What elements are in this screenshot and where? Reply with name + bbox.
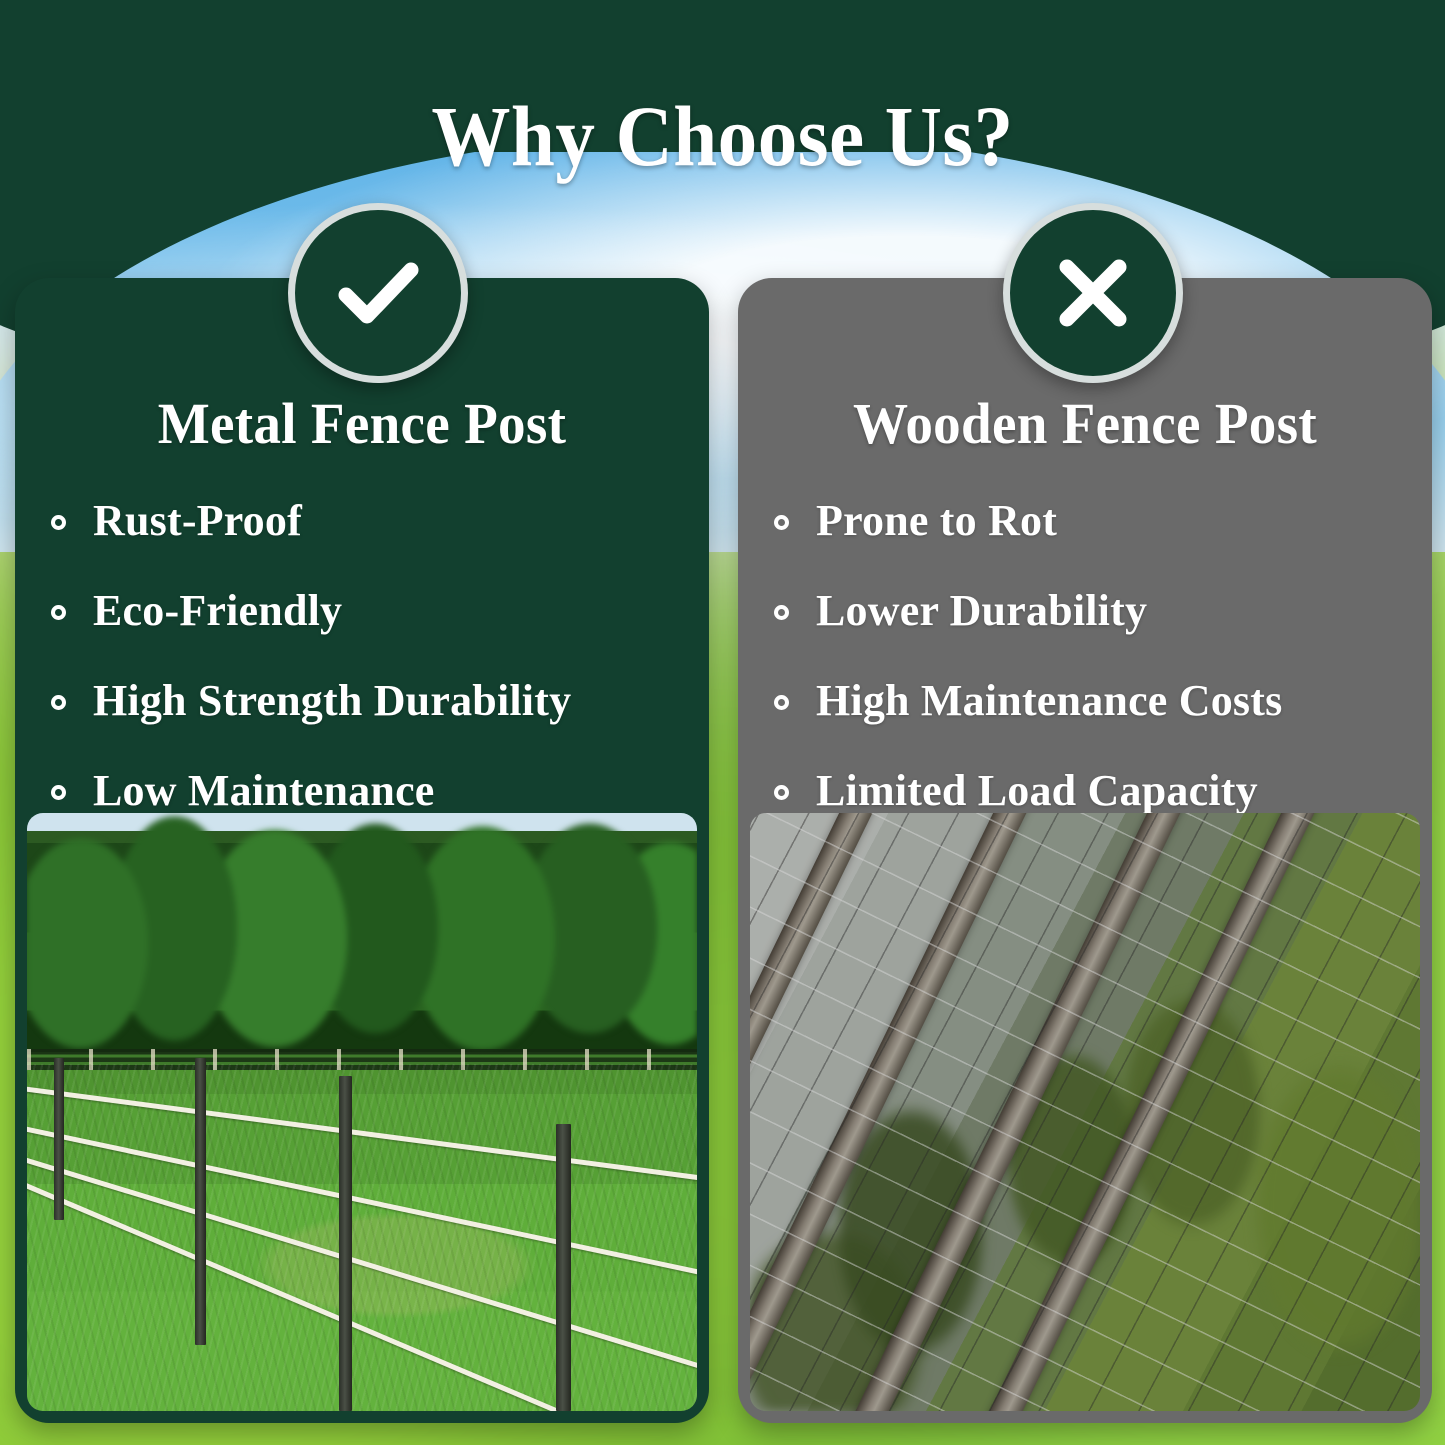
list-item: Eco-Friendly [93,589,683,633]
feature-list-wooden: Prone to Rot Lower Durability High Maint… [738,499,1432,813]
card-wooden-fence-post: Wooden Fence Post Prone to Rot Lower Dur… [738,278,1432,1423]
list-item-label: Rust-Proof [93,499,302,543]
bullet-ring-icon [51,785,66,800]
list-item: Limited Load Capacity [816,769,1406,813]
photo-wooden-fence-post [750,813,1420,1411]
list-item: Low Maintenance [93,769,683,813]
card-metal-fence-post: Metal Fence Post Rust-Proof Eco-Friendly… [15,278,709,1423]
photo-metal-post [195,1058,206,1345]
bullet-ring-icon [51,605,66,620]
photo-grass-texture [27,1064,697,1411]
list-item-label: Prone to Rot [816,499,1057,543]
photo-metal-post [339,1076,352,1411]
list-item-label: Limited Load Capacity [816,769,1258,813]
why-choose-us-poster: Why Choose Us? Metal Fence Post Rust-Pro… [0,0,1445,1445]
bullet-ring-icon [774,605,789,620]
list-item: High Maintenance Costs [816,679,1406,723]
bullet-ring-icon [774,785,789,800]
list-item-label: High Maintenance Costs [816,679,1282,723]
page-title: Why Choose Us? [58,86,1387,186]
cross-badge [1003,203,1183,383]
list-item-label: High Strength Durability [93,679,571,723]
bullet-ring-icon [51,695,66,710]
comparison-cards: Metal Fence Post Rust-Proof Eco-Friendly… [0,0,1445,1445]
photo-metal-post [556,1124,571,1411]
check-badge [288,203,468,383]
feature-list-metal: Rust-Proof Eco-Friendly High Strength Du… [15,499,709,813]
card-title-wooden: Wooden Fence Post [755,390,1414,457]
list-item-label: Lower Durability [816,589,1147,633]
cross-icon [1045,245,1141,341]
bullet-ring-icon [774,695,789,710]
check-icon [326,241,430,345]
list-item: Rust-Proof [93,499,683,543]
photo-treeline [27,813,697,1064]
photo-metal-fence-post [27,813,697,1411]
bullet-ring-icon [51,515,66,530]
card-title-metal: Metal Fence Post [32,390,691,457]
list-item-label: Eco-Friendly [93,589,342,633]
photo-metal-post [54,1058,64,1219]
bullet-ring-icon [774,515,789,530]
list-item: Lower Durability [816,589,1406,633]
list-item: Prone to Rot [816,499,1406,543]
list-item-label: Low Maintenance [93,769,435,813]
photo-dim-overlay [750,813,1420,1411]
list-item: High Strength Durability [93,679,683,723]
